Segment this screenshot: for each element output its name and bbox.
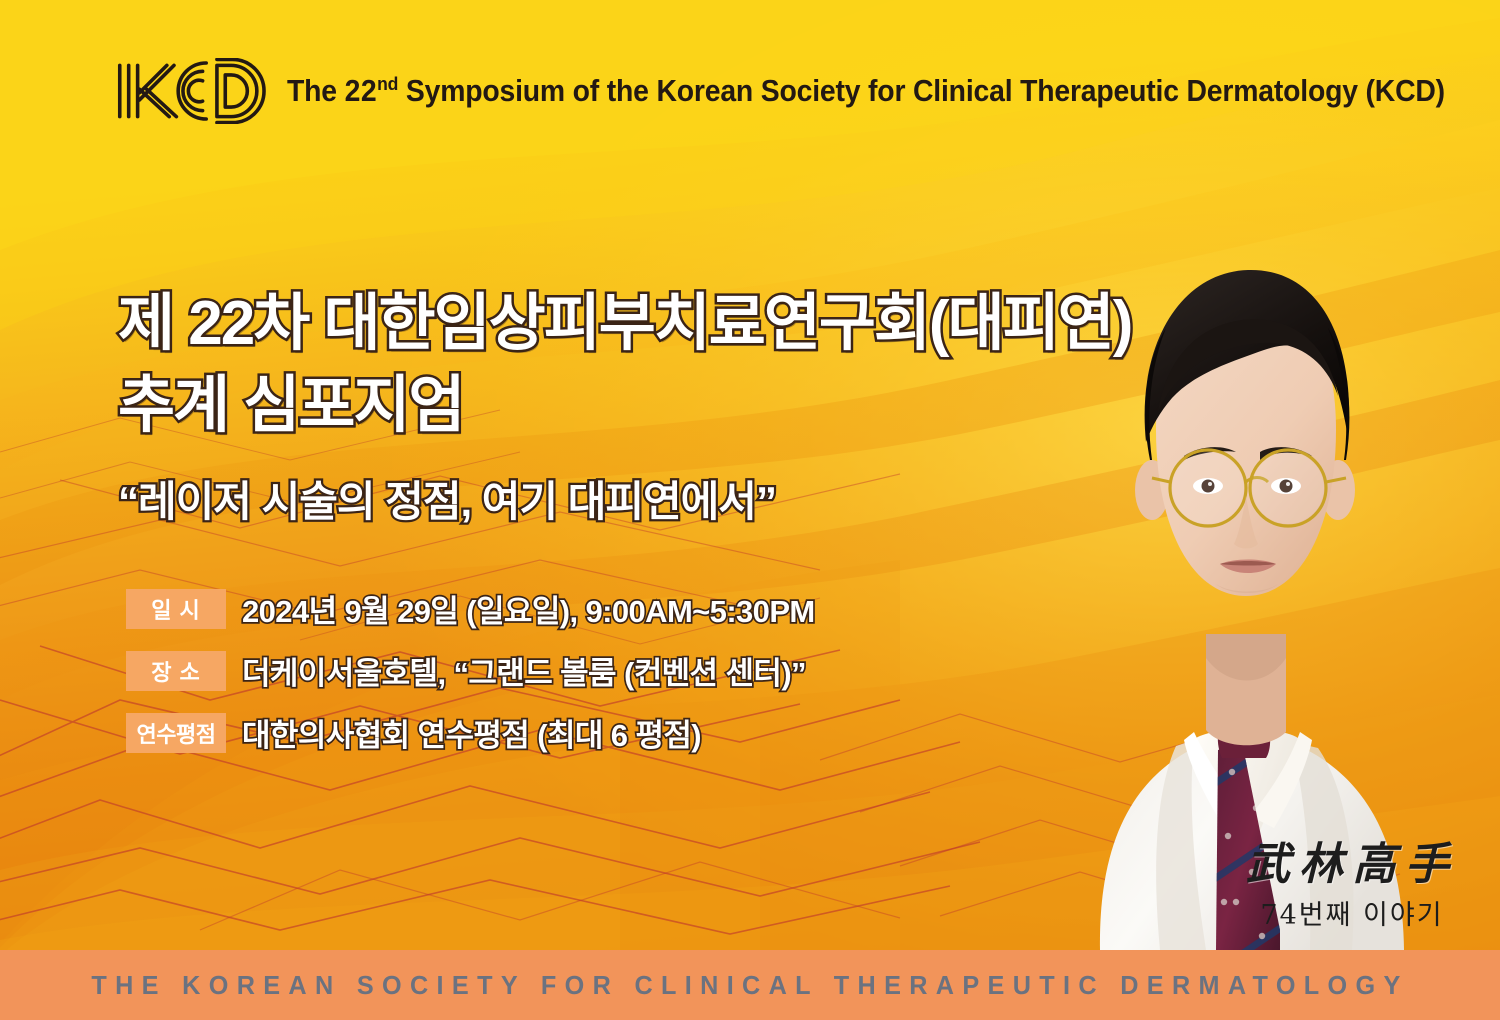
info-badge-credits: 연수평점: [126, 713, 226, 753]
footer-text: THE KOREAN SOCIETY FOR CLINICAL THERAPEU…: [91, 970, 1408, 1001]
info-value-credits: 대한의사협회 연수평점 (최대 6 평점): [242, 710, 701, 755]
speaker-portrait: [980, 160, 1500, 950]
subtitle-quote: “레이저 시술의 정점, 여기 대피연에서”: [118, 468, 776, 529]
info-row-credits: 연수평점 대한의사협회 연수평점 (최대 6 평점): [126, 710, 815, 755]
header-title: The 22nd Symposium of the Korean Society…: [287, 74, 1445, 109]
title-line-2: 추계 심포지엄: [118, 365, 1131, 447]
footer-bar: THE KOREAN SOCIETY FOR CLINICAL THERAPEU…: [0, 950, 1500, 1020]
info-badge-venue: 장 소: [126, 651, 226, 691]
info-value-venue: 더케이서울호텔, “그랜드 볼룸 (컨벤션 센터)”: [242, 648, 806, 693]
info-block: 일 시 2024년 9월 29일 (일요일), 9:00AM~5:30PM 장 …: [126, 586, 815, 755]
kcd-logo-icon: [112, 58, 267, 124]
header-title-prefix: The: [287, 74, 345, 108]
info-value-datetime: 2024년 9월 29일 (일요일), 9:00AM~5:30PM: [242, 586, 815, 631]
header-title-superscript: nd: [377, 73, 398, 94]
calligraphy-block: 武林高手 74번째 이야기: [1246, 842, 1458, 932]
info-row-venue: 장 소 더케이서울호텔, “그랜드 볼룸 (컨벤션 센터)”: [126, 648, 815, 693]
header-title-rest: Symposium of the Korean Society for Clin…: [398, 74, 1445, 108]
title-line-1: 제 22차 대한임상피부치료연구회(대피연): [118, 283, 1131, 365]
main-title: 제 22차 대한임상피부치료연구회(대피연) 추계 심포지엄: [118, 283, 1131, 448]
poster-root: The 22nd Symposium of the Korean Society…: [0, 0, 1500, 1020]
info-badge-datetime: 일 시: [126, 589, 226, 629]
calligraphy-main: 武林高手: [1246, 842, 1458, 888]
header-title-number: 22: [345, 74, 377, 108]
calligraphy-subtitle: 74번째 이야기: [1246, 893, 1458, 932]
info-row-datetime: 일 시 2024년 9월 29일 (일요일), 9:00AM~5:30PM: [126, 586, 815, 631]
header: The 22nd Symposium of the Korean Society…: [112, 58, 1500, 124]
